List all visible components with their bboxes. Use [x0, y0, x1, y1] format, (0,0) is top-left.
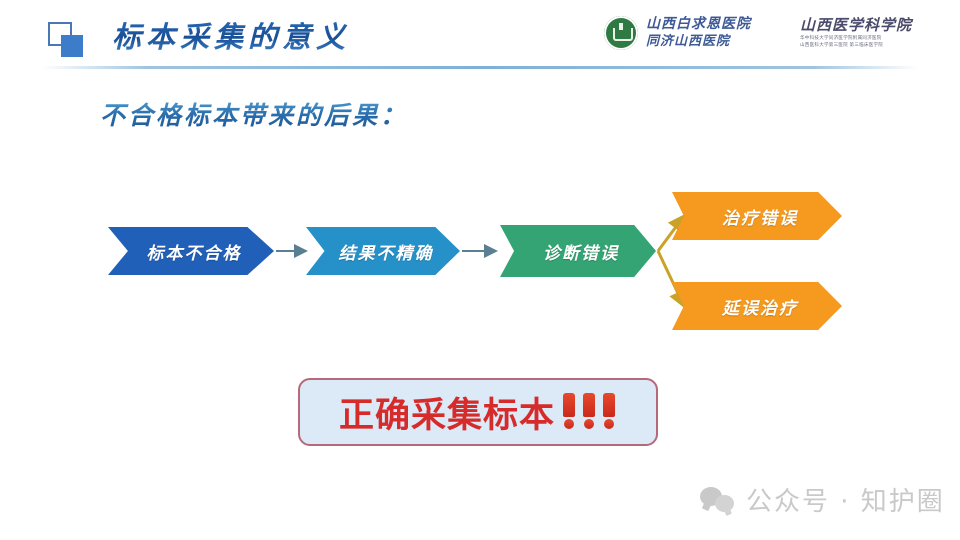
- flow-node-diagnosis-error[interactable]: 诊断错误: [500, 225, 656, 277]
- exclamation-icon: [581, 393, 597, 431]
- callout-text-row: 正确采集标本: [339, 387, 617, 438]
- flow-node-label: 延误治疗: [716, 294, 798, 319]
- flow-node-sample-unqualified[interactable]: 标本不合格: [108, 227, 274, 275]
- flow-node-label: 标本不合格: [141, 239, 242, 264]
- hospital-logo-primary-text: 山西白求恩医院 同济山西医院: [646, 16, 751, 50]
- exclamation-icon: [561, 393, 577, 431]
- institute-name: 山西医学科学院: [800, 16, 912, 35]
- institute-subtitle-line-2: 山西医科大学第三医院 第三临床医学院: [800, 42, 912, 49]
- square-filled-shape: [61, 35, 83, 57]
- slide-header: 标本采集的意义 山西白求恩医院 同济山西医院 山西医学科学院 华中科技大学同济医…: [0, 0, 960, 70]
- callout-label: 正确采集标本: [339, 387, 555, 438]
- hospital-emblem-icon: [604, 16, 638, 50]
- exclamation-icon: [601, 393, 617, 431]
- slide-canvas: 标本采集的意义 山西白求恩医院 同济山西医院 山西医学科学院 华中科技大学同济医…: [0, 0, 960, 540]
- institute-subtitle-line-1: 华中科技大学同济医学院附属同济医院: [800, 35, 912, 42]
- wechat-icon: [700, 486, 736, 514]
- wechat-bubble-small: [715, 495, 734, 512]
- flow-node-treatment-error[interactable]: 治疗错误: [672, 192, 842, 240]
- hospital-name-line-1: 山西白求恩医院: [646, 16, 751, 34]
- hospital-logo-secondary-text: 山西医学科学院 华中科技大学同济医学院附属同济医院 山西医科大学第三医院 第三临…: [800, 16, 912, 48]
- section-subheading: 不合格标本带来的后果：: [100, 96, 408, 132]
- exclamation-marks-group: [557, 393, 617, 431]
- two-squares-icon: [48, 22, 88, 58]
- flow-node-delayed-treatment[interactable]: 延误治疗: [672, 282, 842, 330]
- hospital-logo-secondary: 山西医学科学院 华中科技大学同济医学院附属同济医院 山西医科大学第三医院 第三临…: [800, 16, 912, 48]
- watermark-label: 公众号 · 知护圈: [746, 481, 945, 518]
- consequences-flow-diagram: 标本不合格 结果不精确 诊断错误 治疗错误 延误治疗: [0, 180, 960, 360]
- flow-node-label: 诊断错误: [537, 239, 619, 264]
- key-message-callout: 正确采集标本: [298, 378, 658, 446]
- flow-node-label: 治疗错误: [716, 204, 798, 229]
- wechat-watermark: 公众号 · 知护圈: [700, 481, 945, 518]
- flow-node-label: 结果不精确: [333, 239, 434, 264]
- flow-node-result-inaccurate[interactable]: 结果不精确: [306, 227, 460, 275]
- hospital-logo-primary: 山西白求恩医院 同济山西医院: [604, 16, 751, 50]
- hospital-name-line-2: 同济山西医院: [646, 34, 751, 50]
- page-title: 标本采集的意义: [112, 14, 350, 56]
- header-divider: [42, 66, 918, 69]
